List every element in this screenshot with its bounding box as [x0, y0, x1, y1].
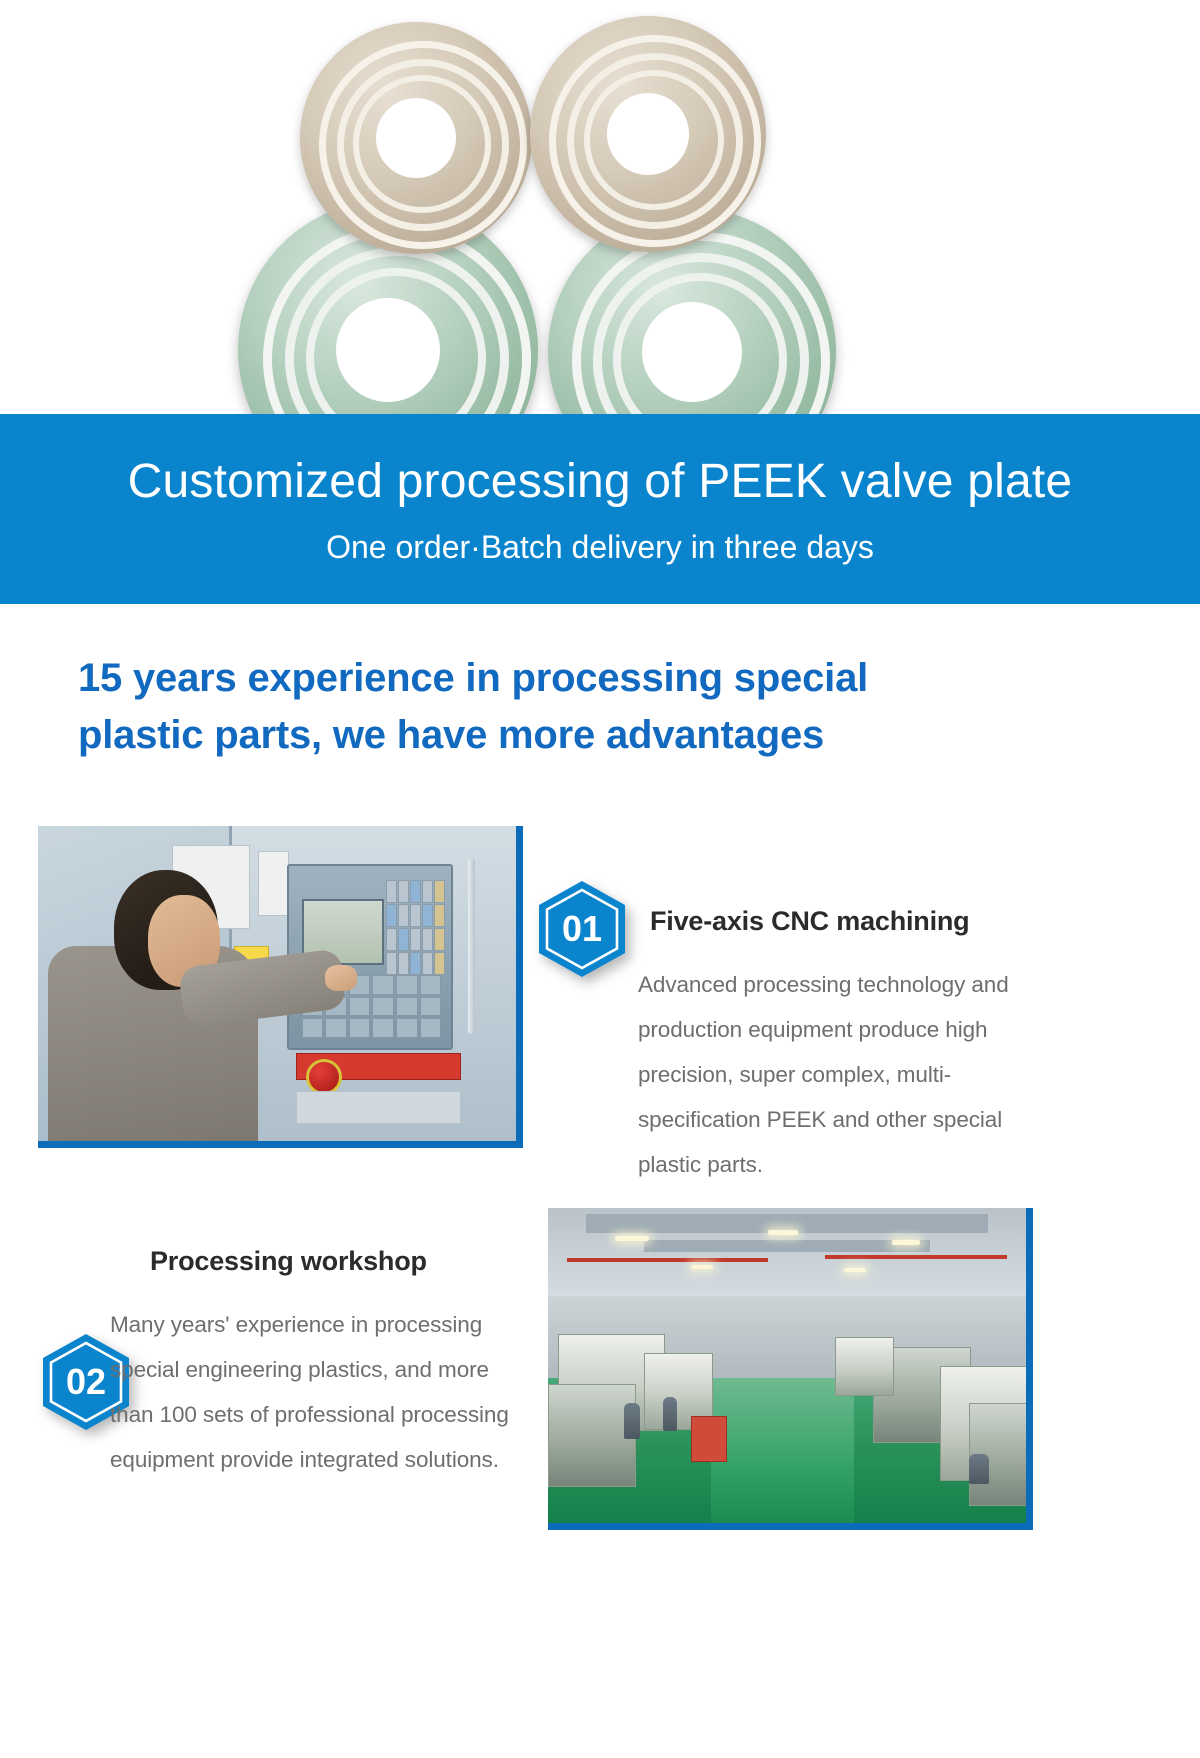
plate-center-hole [642, 302, 742, 402]
banner-title: Customized processing of PEEK valve plat… [0, 414, 1200, 507]
cnc-machining-photo [38, 826, 523, 1148]
feature-01-body: Advanced processing technology and produ… [638, 962, 1070, 1187]
plate-center-hole [607, 93, 689, 175]
feature-badge-01: 01 [536, 879, 628, 979]
plate-center-hole [336, 298, 440, 402]
section-heading-line-1: 15 years experience in processing specia… [78, 656, 868, 700]
plate-center-hole [376, 98, 456, 178]
banner-subtitle: One order·Batch delivery in three days [0, 507, 1200, 565]
feature-02-body: Many years' experience in processing spe… [110, 1302, 530, 1482]
page-title: 15 years experience in processing specia… [78, 650, 1078, 764]
processing-workshop-photo [548, 1208, 1033, 1530]
section-heading-line-2: plastic parts, we have more advantages [78, 713, 824, 757]
feature-02-title: Processing workshop [150, 1246, 427, 1277]
feature-badge-02-number: 02 [66, 1361, 106, 1402]
feature-badge-01-number: 01 [562, 908, 602, 949]
tan-valve-plate-upper-right [530, 16, 766, 252]
tan-valve-plate-upper-left [300, 22, 532, 254]
hero-banner: Customized processing of PEEK valve plat… [0, 414, 1200, 604]
feature-01-title: Five-axis CNC machining [650, 906, 969, 937]
hero-product-photo [0, 0, 1200, 425]
